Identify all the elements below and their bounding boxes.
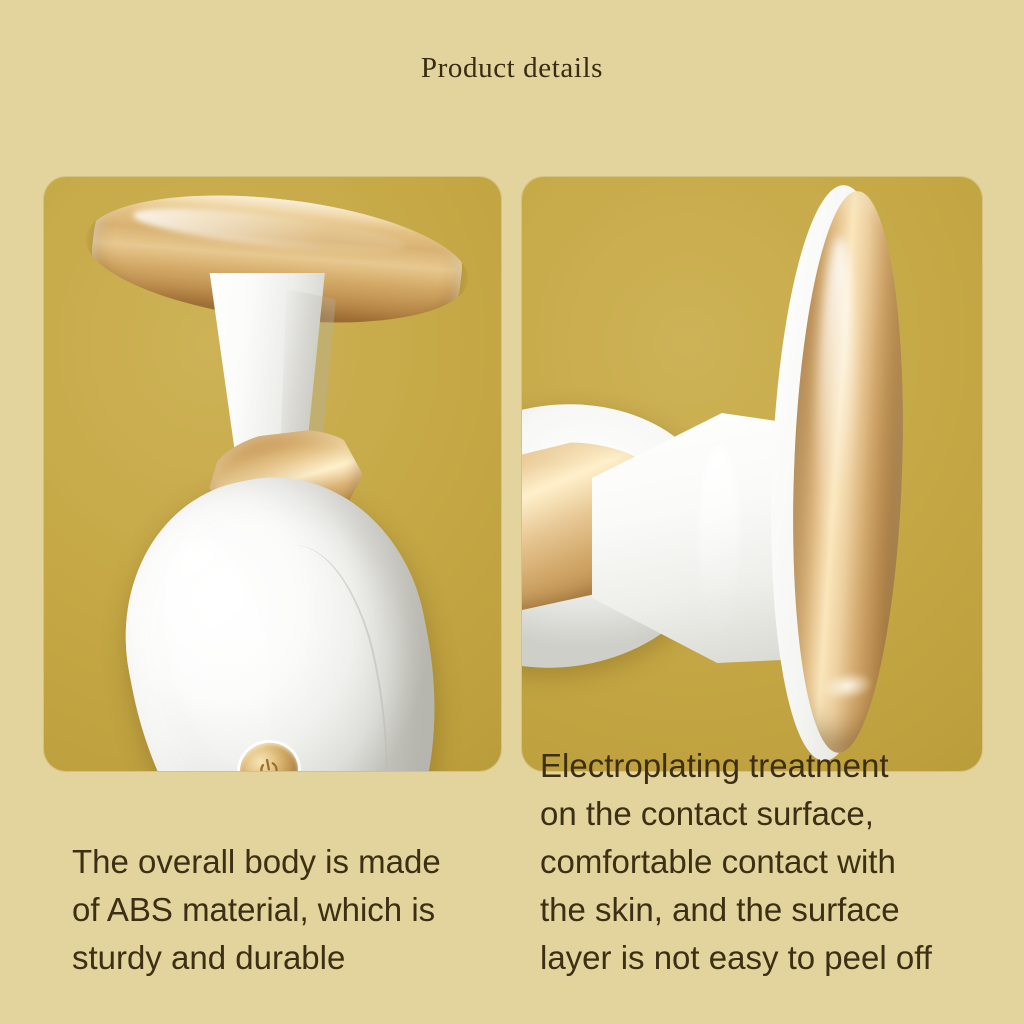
- caption-left-line: sturdy and durable: [72, 934, 512, 982]
- page-title: Product details: [0, 52, 1024, 85]
- caption-right-line: on the contact surface,: [540, 790, 1000, 838]
- caption-left-line: The overall body is made: [72, 838, 512, 886]
- product-image-contact-head-closeup: [522, 177, 982, 771]
- caption-right-line: layer is not easy to peel off: [540, 934, 1000, 982]
- caption-right-line: Electroplating treatment: [540, 742, 1000, 790]
- product-details-page: Product details: [0, 0, 1024, 1024]
- caption-right: Electroplating treatment on the contact …: [540, 742, 1000, 982]
- caption-left: The overall body is made of ABS material…: [72, 838, 512, 982]
- product-photo-left: [44, 177, 501, 771]
- product-photo-right: [522, 177, 982, 771]
- caption-right-line: comfortable contact with: [540, 838, 1000, 886]
- power-icon: [254, 755, 284, 771]
- caption-right-line: the skin, and the surface: [540, 886, 1000, 934]
- product-image-full-device: [44, 177, 501, 771]
- device-stem-highlight: [698, 445, 740, 635]
- caption-left-line: of ABS material, which is: [72, 886, 512, 934]
